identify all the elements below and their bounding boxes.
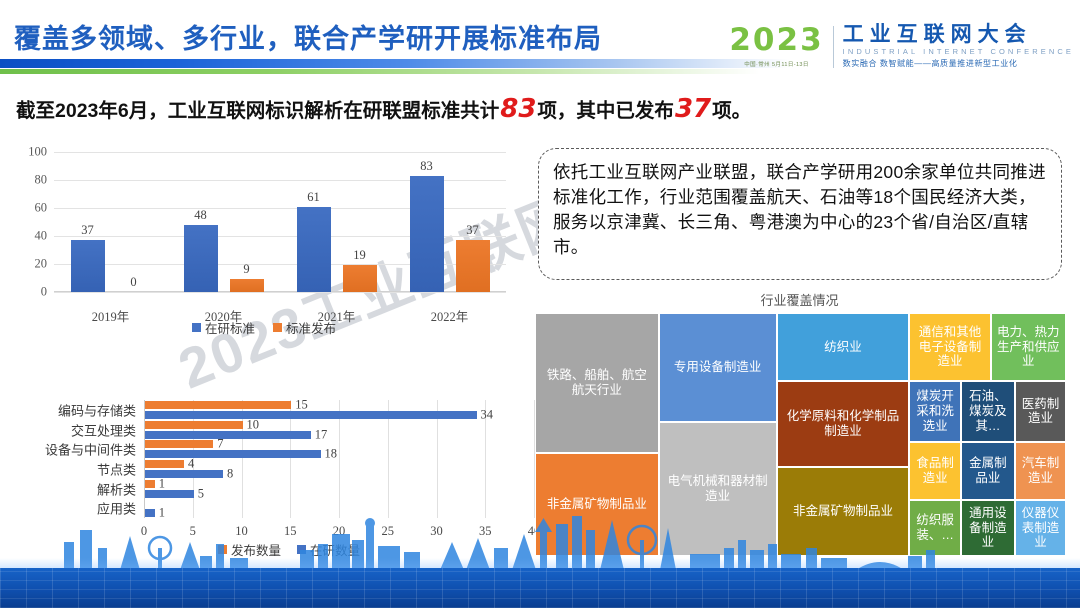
legend-swatch-icon <box>192 323 201 332</box>
y-axis-category-label: 设备与中间件类 <box>45 440 136 459</box>
horizontal-bar[interactable] <box>145 421 243 429</box>
horizontal-bar[interactable] <box>145 470 223 478</box>
column-value-label: 0 <box>130 275 136 290</box>
callout-box: 依托工业互联网产业联盟，联合产学研用200余家单位共同推进标准化工作，行业范围覆… <box>538 148 1062 280</box>
column-bar[interactable] <box>297 207 331 292</box>
treemap-cell-label: 通用设备制造业 <box>967 506 1009 550</box>
y-axis-tick-label: 20 <box>35 257 48 272</box>
legend-item[interactable]: 标准发布 <box>273 318 336 337</box>
gridline <box>54 292 506 293</box>
headline-number-total: 83 <box>499 94 537 124</box>
bar-value-label: 8 <box>227 466 233 481</box>
footer-grid-decoration <box>0 568 1080 608</box>
treemap-section: 行业覆盖情况 铁路、船舶、航空航天行业非金属矿物制品业专用设备制造业电气机械和器… <box>527 290 1072 558</box>
bar-value-label: 17 <box>315 427 328 442</box>
treemap-cell-label: 仪器仪表制造业 <box>1021 506 1060 550</box>
treemap-cell[interactable]: 石油、煤炭及其… <box>961 381 1015 442</box>
treemap-chart: 铁路、船舶、航空航天行业非金属矿物制品业专用设备制造业电气机械和器材制造业纺织业… <box>535 313 1066 556</box>
logo-divider <box>833 26 834 68</box>
logo-slogan: 数实融合 数智赋能——高质量推进新型工业化 <box>843 58 1074 69</box>
callout-text: 依托工业互联网产业联盟，联合产学研用200余家单位共同推进标准化工作，行业范围覆… <box>553 160 1047 259</box>
column-value-label: 19 <box>353 248 366 263</box>
horizontal-bar[interactable] <box>145 440 213 448</box>
column-bar[interactable] <box>230 279 264 292</box>
legend-swatch-icon <box>218 545 227 554</box>
legend-swatch-icon <box>297 545 306 554</box>
header-rule-green <box>0 69 760 74</box>
treemap-cell[interactable]: 电气机械和器材制造业 <box>659 422 777 556</box>
logo-text-block: 工业互联网大会 INDUSTRIAL INTERNET CONFERENCE 数… <box>843 24 1074 69</box>
column-value-label: 83 <box>420 159 433 174</box>
treemap-cell[interactable]: 食品制造业 <box>909 442 961 500</box>
horizontal-bar[interactable] <box>145 431 311 439</box>
treemap-cell-label: 电气机械和器材制造业 <box>665 474 771 504</box>
y-axis-tick-label: 80 <box>35 173 48 188</box>
logo-name-en: INDUSTRIAL INTERNET CONFERENCE <box>843 47 1074 56</box>
x-axis-tick-label: 15 <box>284 524 297 539</box>
treemap-cell-label: 煤炭开采和洗选业 <box>915 389 955 433</box>
x-axis-tick-label: 20 <box>333 524 346 539</box>
treemap-cell-label: 石油、煤炭及其… <box>967 389 1009 433</box>
treemap-cell[interactable]: 仪器仪表制造业 <box>1015 500 1066 556</box>
legend-label: 在研标准 <box>205 318 255 337</box>
treemap-cell[interactable]: 通信和其他电子设备制造业 <box>909 313 990 381</box>
column-chart-legend: 在研标准标准发布 <box>8 318 520 337</box>
horizontal-bar[interactable] <box>145 450 321 458</box>
logo-year-block: 2023 中国·常州 5月11日-13日 <box>729 25 832 68</box>
y-axis-category-label: 解析类 <box>97 479 136 498</box>
y-axis-tick-label: 100 <box>28 145 47 160</box>
treemap-cell-label: 纺织业 <box>824 340 862 355</box>
bar-value-label: 5 <box>198 486 204 501</box>
column-value-label: 37 <box>466 223 479 238</box>
column-bar[interactable] <box>71 240 105 292</box>
treemap-title: 行业覆盖情况 <box>527 290 1072 309</box>
y-axis-tick-label: 0 <box>41 285 47 300</box>
treemap-cell[interactable]: 金属制品业 <box>961 442 1015 500</box>
bar-value-label: 18 <box>325 447 338 462</box>
bar-value-label: 34 <box>481 407 494 422</box>
treemap-cell-label: 化学原料和化学制品制造业 <box>783 409 904 439</box>
treemap-cell-label: 汽车制造业 <box>1021 456 1060 486</box>
treemap-cell[interactable]: 医药制造业 <box>1015 381 1066 442</box>
column-bar[interactable] <box>410 176 444 292</box>
logo-name-cn: 工业互联网大会 <box>843 24 1074 46</box>
x-axis-tick-label: 10 <box>235 524 248 539</box>
horizontal-bar[interactable] <box>145 460 184 468</box>
treemap-cell-label: 金属制品业 <box>967 456 1009 486</box>
x-axis-tick-label: 35 <box>479 524 492 539</box>
x-axis-tick-label: 30 <box>430 524 443 539</box>
column-bar[interactable] <box>184 225 218 292</box>
column-bar[interactable] <box>456 240 490 292</box>
headline-part-3: 项。 <box>712 100 751 122</box>
treemap-cell[interactable]: 纺织业 <box>777 313 910 381</box>
header-rule-blue <box>0 59 790 68</box>
treemap-cell-label: 非金属矿物制品业 <box>793 504 893 519</box>
treemap-cell-label: 非金属矿物制品业 <box>547 497 647 512</box>
y-axis-category-label: 交互处理类 <box>71 420 136 439</box>
bar-chart-plot-area: 0510152025303540编码与存储类1534交互处理类1017设备与中间… <box>144 400 534 518</box>
column-value-label: 61 <box>307 190 320 205</box>
bar-chart-legend: 发布数量在研数量 <box>44 540 534 559</box>
horizontal-bar[interactable] <box>145 480 155 488</box>
treemap-cell[interactable]: 汽车制造业 <box>1015 442 1066 500</box>
treemap-cell[interactable]: 非金属矿物制品业 <box>535 453 659 556</box>
legend-swatch-icon <box>273 323 282 332</box>
treemap-cell[interactable]: 通用设备制造业 <box>961 500 1015 556</box>
legend-item[interactable]: 在研标准 <box>192 318 255 337</box>
column-value-label: 37 <box>81 223 94 238</box>
headline-statement: 截至2023年6月，工业互联网标识解析在研联盟标准共计83项，其中已发布37项。 <box>16 94 751 124</box>
column-bar[interactable] <box>343 265 377 292</box>
column-value-label: 48 <box>194 208 207 223</box>
treemap-cell[interactable]: 纺织服装、… <box>909 500 961 556</box>
chart-standards-by-category: 0510152025303540编码与存储类1534交互处理类1017设备与中间… <box>4 394 534 574</box>
slide-canvas: 覆盖多领域、多行业，联合产学研开展标准布局 2023 中国·常州 5月11日-1… <box>0 0 1080 608</box>
x-axis-tick-label: 25 <box>382 524 395 539</box>
y-axis-tick-label: 60 <box>35 201 48 216</box>
treemap-cell[interactable]: 铁路、船舶、航空航天行业 <box>535 313 659 453</box>
y-axis-category-label: 编码与存储类 <box>58 400 136 419</box>
legend-label: 在研数量 <box>310 540 360 559</box>
treemap-cell-label: 铁路、船舶、航空航天行业 <box>541 368 653 398</box>
treemap-cell-label: 医药制造业 <box>1021 397 1060 427</box>
horizontal-bar[interactable] <box>145 490 194 498</box>
page-title: 覆盖多领域、多行业，联合产学研开展标准布局 <box>14 17 602 56</box>
treemap-cell[interactable]: 非金属矿物制品业 <box>777 467 910 556</box>
treemap-cell[interactable]: 专用设备制造业 <box>659 313 777 422</box>
treemap-cell-label: 电力、热力生产和供应业 <box>997 325 1060 369</box>
headline-part-2: 项，其中已发布 <box>537 100 674 122</box>
bar-value-label: 1 <box>159 506 165 521</box>
horizontal-bar[interactable] <box>145 509 155 517</box>
legend-label: 标准发布 <box>286 318 336 337</box>
treemap-cell-label: 食品制造业 <box>915 456 955 486</box>
treemap-cell-label: 通信和其他电子设备制造业 <box>915 325 984 369</box>
legend-item[interactable]: 在研数量 <box>297 540 360 559</box>
treemap-cell-label: 专用设备制造业 <box>674 360 762 375</box>
treemap-cell[interactable]: 电力、热力生产和供应业 <box>991 313 1066 381</box>
horizontal-bar[interactable] <box>145 411 477 419</box>
x-axis-tick-label: 5 <box>190 524 196 539</box>
logo-date: 中国·常州 5月11日-13日 <box>729 60 823 68</box>
y-axis-category-label: 节点类 <box>97 459 136 478</box>
x-axis-tick-label: 0 <box>141 524 147 539</box>
y-axis-tick-label: 40 <box>35 229 48 244</box>
gridline <box>54 152 506 153</box>
chart-yearly-standards: 0204060801003702019年4892020年61192021年833… <box>8 142 520 342</box>
treemap-cell[interactable]: 化学原料和化学制品制造业 <box>777 381 910 467</box>
legend-label: 发布数量 <box>231 540 281 559</box>
treemap-cell[interactable]: 煤炭开采和洗选业 <box>909 381 961 442</box>
y-axis-category-label: 应用类 <box>97 499 136 518</box>
logo-year: 2023 <box>729 25 823 56</box>
column-value-label: 9 <box>243 262 249 277</box>
conference-logo: 2023 中国·常州 5月11日-13日 工业互联网大会 INDUSTRIAL … <box>729 24 1074 69</box>
horizontal-bar[interactable] <box>145 401 291 409</box>
slide-header: 覆盖多领域、多行业，联合产学研开展标准布局 2023 中国·常州 5月11日-1… <box>0 0 1080 88</box>
headline-part-1: 截至2023年6月，工业互联网标识解析在研联盟标准共计 <box>16 100 499 122</box>
headline-number-published: 37 <box>674 94 712 124</box>
column-chart-plot-area: 0204060801003702019年4892020年61192021年833… <box>54 152 506 292</box>
legend-item[interactable]: 发布数量 <box>218 540 281 559</box>
treemap-cell-label: 纺织服装、… <box>915 513 955 543</box>
